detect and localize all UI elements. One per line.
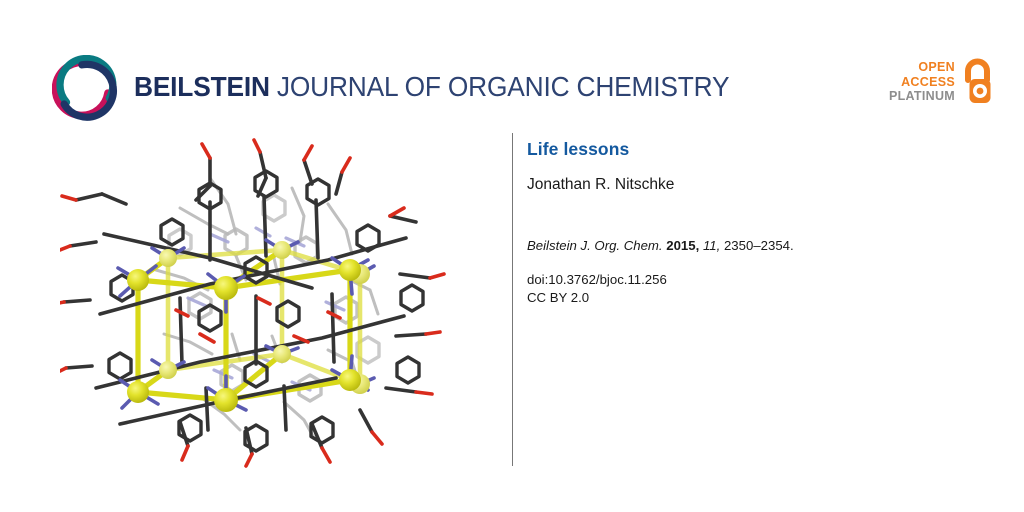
- wordmark-light-part: JOURNAL OF ORGANIC CHEMISTRY: [270, 71, 730, 102]
- open-access-line-access: ACCESS: [889, 75, 955, 90]
- metal-organic-cage-figure: [60, 138, 450, 468]
- article-doi[interactable]: doi:10.3762/bjoc.11.256: [527, 271, 987, 290]
- journal-wordmark: BEILSTEIN JOURNAL OF ORGANIC CHEMISTRY: [134, 73, 729, 103]
- wordmark-bold-part: BEILSTEIN: [134, 71, 270, 102]
- article-citation: Beilstein J. Org. Chem. 2015, 11, 2350–2…: [527, 238, 987, 255]
- citation-year: 2015,: [666, 238, 699, 253]
- open-access-line-open: OPEN: [889, 60, 955, 75]
- beilstein-triple-arc-logo-icon: [52, 55, 118, 121]
- article-graphical-abstract[interactable]: [60, 138, 450, 468]
- open-access-unlocked-padlock-icon: [962, 58, 996, 106]
- article-title[interactable]: Life lessons: [527, 140, 987, 159]
- journal-brand-lockup[interactable]: BEILSTEIN JOURNAL OF ORGANIC CHEMISTRY: [52, 55, 767, 121]
- article-authors: Jonathan R. Nitschke: [527, 176, 987, 194]
- article-metadata-pane: Life lessons Jonathan R. Nitschke Beilst…: [527, 140, 987, 308]
- open-access-label-group: OPEN ACCESS PLATINUM: [889, 60, 955, 104]
- citation-pages: 2350–2354.: [720, 238, 793, 253]
- content-divider: [512, 133, 513, 466]
- open-access-line-platinum: PLATINUM: [889, 89, 955, 104]
- article-license[interactable]: CC BY 2.0: [527, 289, 987, 308]
- open-access-badge[interactable]: OPEN ACCESS PLATINUM: [889, 58, 996, 106]
- citation-volume: 11,: [703, 238, 720, 253]
- masthead: BEILSTEIN JOURNAL OF ORGANIC CHEMISTRY O…: [0, 0, 1024, 132]
- citation-journal: Beilstein J. Org. Chem.: [527, 238, 663, 253]
